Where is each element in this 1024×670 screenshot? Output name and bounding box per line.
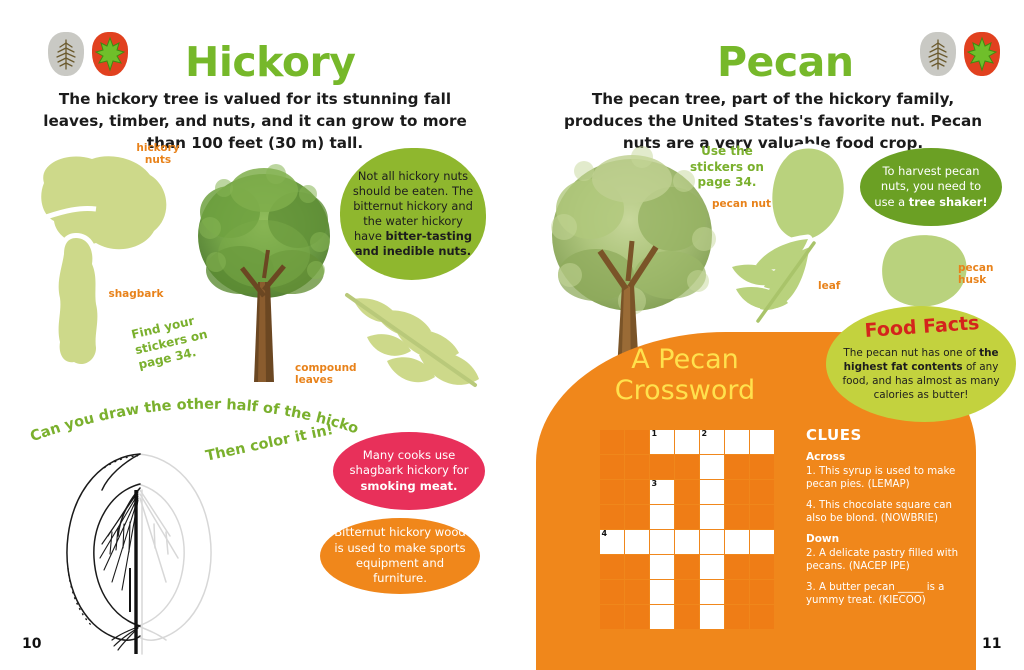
tree-shaker-bubble: To harvest pecan nuts, you need to use a… [860,148,1002,226]
bitternut-wood-bubble: Bitternut hickory wood is used to make s… [320,518,480,594]
down-clue-3: 3. A butter pecan _____ is a yummy treat… [806,581,966,608]
crossword-cell-blocked [675,505,699,529]
crossword-title-line2: Crossword [560,375,810,406]
bubble-text-bold: smoking meat. [361,479,458,493]
label-compound-leaves: compound leaves [295,362,365,386]
crossword-cell-blocked [600,505,624,529]
crossword-cell-open[interactable] [675,430,699,454]
across-clue-1: 1. This syrup is used to make pecan pies… [806,465,966,492]
crossword-cell-blocked [750,455,774,479]
crossword-cell-blocked [600,430,624,454]
bubble-text: Bitternut hickory wood is used to make s… [334,525,466,585]
crossword-cell-blocked [625,480,649,504]
crossword-cell-blocked [725,455,749,479]
crossword-cell-blocked [750,605,774,629]
crossword-grid[interactable]: 1234 [600,430,774,629]
down-clue-2: 2. A delicate pastry filled with pecans.… [806,547,966,574]
crossword-cell-open[interactable] [675,530,699,554]
spread-gutter [511,0,513,670]
sticker-shagbark[interactable] [36,228,126,378]
crossword-cell-open[interactable] [700,605,724,629]
page-number-right: 11 [982,636,1001,652]
label-pecan-husk: pecan husk [958,262,1018,286]
bubble-text-bold: tree shaker! [909,195,988,209]
crossword-title-line1: A Pecan [560,344,810,375]
crossword-cell-number: 3 [652,480,658,488]
maple-leaf-icon [964,32,1000,76]
crossword-cell-blocked [725,580,749,604]
crossword-clues: CLUES Across 1. This syrup is used to ma… [806,426,966,615]
hickory-nuts-fact-bubble: Not all hickory nuts should be eaten. Th… [340,148,486,280]
conifer-leaf-icon [920,32,956,76]
crossword-cell-open[interactable] [650,605,674,629]
crossword-cell-blocked [750,580,774,604]
across-heading: Across [806,451,966,463]
crossword-cell-blocked [725,555,749,579]
crossword-cell-open[interactable]: 2 [700,430,724,454]
page-title: Pecan [717,38,854,86]
crossword-cell-blocked [600,455,624,479]
crossword-cell-open[interactable] [700,505,724,529]
crossword-panel-title: A Pecan Crossword [560,344,810,406]
crossword-cell-blocked [625,555,649,579]
crossword-cell-open[interactable] [700,530,724,554]
crossword-cell-blocked [625,455,649,479]
crossword-cell-blocked [650,455,674,479]
label-hickory-nuts: hickory nuts [128,142,188,166]
food-facts-bubble: Food Facts The pecan nut has one of the … [826,306,1016,422]
hickory-nut-drawing-activity[interactable] [52,440,282,669]
label-pecan-nut: pecan nut [712,198,792,210]
crossword-cell-blocked [675,555,699,579]
crossword-cell-open[interactable] [725,430,749,454]
crossword-cell-blocked [600,605,624,629]
book-spread: Hickory The hickory tree is valued for i… [0,0,1024,670]
crossword-cell-blocked [675,455,699,479]
crossword-cell-blocked [600,480,624,504]
crossword-cell-open[interactable] [700,455,724,479]
clues-heading: CLUES [806,426,966,444]
crossword-cell-blocked [725,505,749,529]
crossword-cell-open[interactable] [700,580,724,604]
crossword-cell-number: 1 [652,430,658,438]
crossword-cell-blocked [750,555,774,579]
crossword-cell-open[interactable] [650,505,674,529]
crossword-cell-open[interactable] [700,480,724,504]
crossword-cell-blocked [675,480,699,504]
crossword-cell-open[interactable] [650,555,674,579]
crossword-cell-blocked [625,430,649,454]
crossword-cell-blocked [625,580,649,604]
crossword-cell-open[interactable]: 4 [600,530,624,554]
crossword-cell-number: 2 [702,430,708,438]
crossword-cell-blocked [625,605,649,629]
crossword-cell-blocked [625,505,649,529]
crossword-cell-open[interactable]: 1 [650,430,674,454]
food-facts-line1: The pecan nut has one of [843,347,975,359]
crossword-cell-blocked [600,555,624,579]
crossword-cell-number: 4 [602,530,608,538]
across-clue-4: 4. This chocolate square can also be blo… [806,499,966,526]
label-leaf: leaf [818,280,864,292]
use-stickers-note: Use the stickers on page 34. [690,144,764,191]
crossword-cell-open[interactable] [700,555,724,579]
conifer-leaf-icon [48,32,84,76]
label-shagbark: shagbark [96,288,176,300]
down-heading: Down [806,533,966,545]
crossword-cell-open[interactable] [625,530,649,554]
crossword-cell-blocked [675,580,699,604]
food-facts-heading: Food Facts [843,311,1000,344]
bubble-text: Many cooks use shagbark hickory for [349,448,468,477]
crossword-cell-blocked [750,505,774,529]
page-title: Hickory [185,38,355,86]
crossword-cell-open[interactable]: 3 [650,480,674,504]
crossword-cell-open[interactable] [650,580,674,604]
crossword-cell-blocked [675,605,699,629]
crossword-cell-open[interactable] [650,530,674,554]
crossword-cell-blocked [600,580,624,604]
crossword-cell-open[interactable] [750,430,774,454]
smoking-meat-bubble: Many cooks use shagbark hickory for smok… [333,432,485,510]
crossword-cell-blocked [750,480,774,504]
crossword-cell-open[interactable] [725,530,749,554]
crossword-cell-open[interactable] [750,530,774,554]
crossword-cell-blocked [725,480,749,504]
page-number-left: 10 [22,636,41,652]
crossword-cell-blocked [725,605,749,629]
maple-leaf-icon [92,32,128,76]
